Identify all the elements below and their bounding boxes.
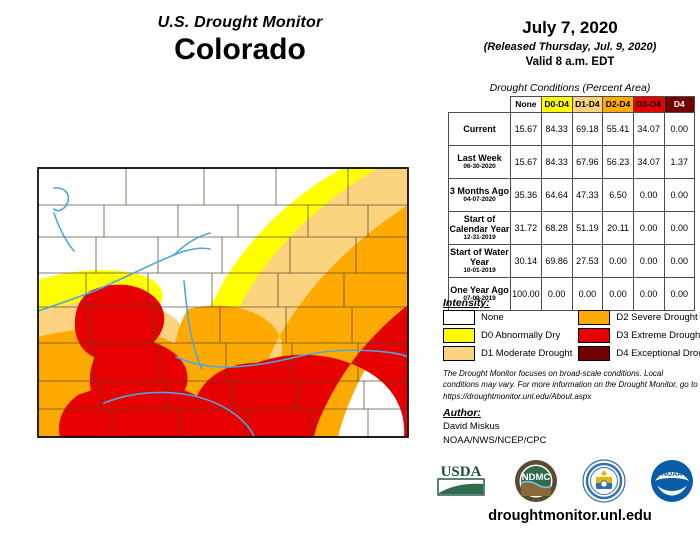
table-row-start-of-calendar-year: Start of Calendar Year 12-31-2019 31.72 …	[449, 212, 695, 245]
author-name: David Miskus	[443, 420, 546, 434]
cell-d3-d4: 34.07	[633, 113, 664, 146]
drought-monitor-page: U.S. Drought Monitor Colorado July 7, 20…	[0, 0, 700, 540]
cell-d2-d4: 20.11	[603, 212, 634, 245]
row-label-text: Current	[463, 124, 496, 134]
legend-label-d3: D3 Extreme Drought	[616, 330, 700, 341]
cell-d3-d4: 34.07	[633, 146, 664, 179]
cell-d0-d4: 69.86	[541, 245, 572, 278]
author-heading: Author:	[443, 407, 481, 419]
cell-d4: 0.00	[664, 245, 694, 278]
cell-d2-d4: 0.00	[603, 278, 634, 311]
legend-item-none: None	[443, 310, 572, 325]
table-row-start-of-water-year: Start of Water Year 10-01-2019 30.14 69.…	[449, 245, 695, 278]
header-d3-d4: D3-D4	[633, 97, 664, 113]
table-row-current: Current 15.67 84.33 69.18 55.41 34.07 0.…	[449, 113, 695, 146]
legend-label-none: None	[481, 312, 504, 323]
row-label-last-week: Last Week 06-30-2020	[449, 146, 511, 179]
author-block: David Miskus NOAA/NWS/NCEP/CPC	[443, 420, 546, 448]
cell-none: 15.67	[510, 113, 541, 146]
table-body: Current 15.67 84.33 69.18 55.41 34.07 0.…	[449, 113, 695, 311]
legend-item-d3: D3 Extreme Drought	[578, 328, 700, 343]
valid-time: Valid 8 a.m. EDT	[440, 56, 700, 68]
author-affiliation: NOAA/NWS/NCEP/CPC	[443, 434, 546, 448]
intensity-legend: None D2 Severe Drought D0 Abnormally Dry…	[443, 310, 698, 361]
cell-d0-d4: 64.64	[541, 179, 572, 212]
legend-label-d1: D1 Moderate Drought	[481, 348, 572, 359]
cell-d0-d4: 0.00	[541, 278, 572, 311]
cell-d2-d4: 56.23	[603, 146, 634, 179]
row-label-text: Start of Calendar Year	[450, 214, 510, 234]
row-label-current: Current	[449, 113, 511, 146]
cell-d4: 1.37	[664, 146, 694, 179]
cell-d4: 0.00	[664, 278, 694, 311]
header-d2-d4: D2-D4	[603, 97, 634, 113]
cell-d0-d4: 68.28	[541, 212, 572, 245]
table-header: None D0-D4 D1-D4 D2-D4 D3-D4 D4	[449, 97, 695, 113]
svg-text:NOAA: NOAA	[662, 471, 683, 478]
cell-d4: 0.00	[664, 212, 694, 245]
cell-d2-d4: 0.00	[603, 245, 634, 278]
cell-none: 15.67	[510, 146, 541, 179]
cell-none: 30.14	[510, 245, 541, 278]
row-label-start-of-calendar-year: Start of Calendar Year 12-31-2019	[449, 212, 511, 245]
cell-d4: 0.00	[664, 179, 694, 212]
cell-d0-d4: 84.33	[541, 113, 572, 146]
colorado-drought-map	[8, 95, 428, 455]
cell-none: 100.00	[510, 278, 541, 311]
cell-d0-d4: 84.33	[541, 146, 572, 179]
cell-d2-d4: 55.41	[603, 113, 634, 146]
header-d4: D4	[664, 97, 694, 113]
row-label-start-of-water-year: Start of Water Year 10-01-2019	[449, 245, 511, 278]
cell-d3-d4: 0.00	[633, 278, 664, 311]
cell-d3-d4: 0.00	[633, 179, 664, 212]
header-corner-blank	[449, 97, 511, 113]
title-organization: U.S. Drought Monitor	[60, 14, 420, 32]
legend-swatch-none	[443, 310, 475, 325]
row-label-text: Start of Water Year	[450, 247, 509, 267]
row-label-date: 04-07-2020	[449, 196, 510, 203]
row-label-date: 12-31-2019	[449, 234, 510, 241]
map-drought-layers	[38, 168, 408, 437]
cell-d2-d4: 6.50	[603, 179, 634, 212]
header-d1-d4: D1-D4	[572, 97, 603, 113]
row-label-date: 10-01-2019	[449, 267, 510, 274]
legend-item-d1: D1 Moderate Drought	[443, 346, 572, 361]
disclaimer-text: The Drought Monitor focuses on broad-sca…	[443, 368, 699, 402]
legend-item-d0: D0 Abnormally Dry	[443, 328, 572, 343]
legend-swatch-d1	[443, 346, 475, 361]
legend-swatch-d4	[578, 346, 610, 361]
legend-label-d4: D4 Exceptional Drought	[616, 348, 700, 359]
legend-swatch-d0	[443, 328, 475, 343]
header-none: None	[510, 97, 541, 113]
header-d0-d4: D0-D4	[541, 97, 572, 113]
legend-swatch-d2	[578, 310, 610, 325]
row-label-date: 06-30-2020	[449, 163, 510, 170]
row-label-3-months-ago: 3 Months Ago 04-07-2020	[449, 179, 511, 212]
cell-d1-d4: 47.33	[572, 179, 603, 212]
release-date: (Released Thursday, Jul. 9, 2020)	[440, 41, 700, 53]
table-row-3-months-ago: 3 Months Ago 04-07-2020 35.36 64.64 47.3…	[449, 179, 695, 212]
drought-conditions-table: None D0-D4 D1-D4 D2-D4 D3-D4 D4 Current …	[448, 96, 695, 311]
report-date: July 7, 2020	[440, 18, 700, 38]
table-caption: Drought Conditions (Percent Area)	[440, 82, 700, 94]
row-label-text: 3 Months Ago	[450, 186, 509, 196]
cell-d1-d4: 51.19	[572, 212, 603, 245]
legend-swatch-d3	[578, 328, 610, 343]
intensity-heading: Intensity:	[443, 297, 490, 309]
site-url: droughtmonitor.unl.edu	[440, 508, 700, 524]
page-title: U.S. Drought Monitor Colorado	[60, 14, 420, 66]
cell-d1-d4: 0.00	[572, 278, 603, 311]
table-header-row: None D0-D4 D1-D4 D2-D4 D3-D4 D4	[449, 97, 695, 113]
partner-logos: USDA NDMC NOAA	[432, 458, 694, 504]
ndmc-logo: NDMC	[514, 459, 558, 503]
unl-seal-logo	[582, 459, 626, 503]
noaa-logo: NOAA	[650, 459, 694, 503]
cell-d3-d4: 0.00	[633, 212, 664, 245]
cell-d1-d4: 67.96	[572, 146, 603, 179]
legend-item-d4: D4 Exceptional Drought	[578, 346, 700, 361]
row-label-text: Last Week	[457, 153, 501, 163]
row-label-text: One Year Ago	[450, 285, 509, 295]
legend-label-d2: D2 Severe Drought	[616, 312, 697, 323]
legend-item-d2: D2 Severe Drought	[578, 310, 700, 325]
cell-d1-d4: 69.18	[572, 113, 603, 146]
svg-text:NDMC: NDMC	[522, 472, 551, 483]
cell-d3-d4: 0.00	[633, 245, 664, 278]
cell-none: 31.72	[510, 212, 541, 245]
usda-logo: USDA	[432, 460, 490, 502]
cell-d4: 0.00	[664, 113, 694, 146]
cell-d1-d4: 27.53	[572, 245, 603, 278]
date-block: July 7, 2020 (Released Thursday, Jul. 9,…	[440, 18, 700, 68]
title-state: Colorado	[60, 34, 420, 66]
cell-none: 35.36	[510, 179, 541, 212]
legend-label-d0: D0 Abnormally Dry	[481, 330, 560, 341]
svg-text:USDA: USDA	[441, 464, 482, 480]
table-row-last-week: Last Week 06-30-2020 15.67 84.33 67.96 5…	[449, 146, 695, 179]
